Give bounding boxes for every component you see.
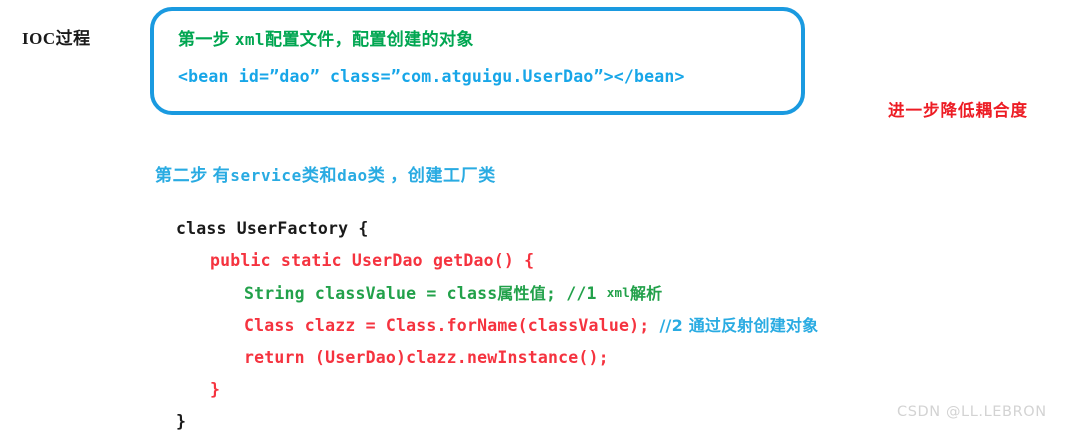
step-one-title-latin: xml — [235, 30, 265, 49]
code-line-method-signature: public static UserDao getDao() { — [176, 245, 976, 277]
code-line-class-declaration: class UserFactory { — [176, 213, 976, 245]
java-code-block: class UserFactory { public static UserDa… — [176, 213, 976, 436]
code-string-classvalue-cjk: 属性值 — [497, 284, 546, 303]
slide-canvas: IOC过程 第一步 xml配置文件，配置创建的对象 <bean id=”dao”… — [0, 0, 1085, 436]
csdn-watermark: CSDN @LL.LEBRON — [897, 404, 1047, 420]
code-string-classvalue-code: String classValue = class — [244, 284, 497, 303]
step-one-xml-code: <bean id=”dao” class=”com.atguigu.UserDa… — [178, 67, 685, 86]
step-one-callout-box: 第一步 xml配置文件，配置创建的对象 <bean id=”dao” class… — [150, 7, 805, 115]
code-comment-xml-parse-cjk: 解析 — [630, 284, 662, 303]
code-line-string-classvalue: String classValue = class属性值; //1 xml解析 — [176, 277, 976, 310]
code-class-forname-code: Class clazz = Class.forName(classValue); — [244, 316, 660, 335]
code-line-close-class-brace: } — [176, 406, 976, 436]
step-two-title-latin-dao: dao — [337, 166, 368, 185]
code-string-classvalue-tail: ; //1 — [546, 284, 607, 303]
decouple-note: 进一步降低耦合度 — [888, 97, 1028, 121]
code-line-return-newinstance: return (UserDao)clazz.newInstance(); — [176, 342, 976, 374]
code-comment-xml-superscript: xml — [607, 285, 630, 300]
step-two-title-prefix: 第二步 有 — [155, 166, 230, 185]
step-two-title-suffix: 类 ，创建工厂类 — [368, 166, 496, 185]
step-one-title: 第一步 xml配置文件，配置创建的对象 — [178, 25, 474, 50]
ioc-process-label: IOC过程 — [22, 24, 91, 49]
code-comment-reflection: //2 通过反射创建对象 — [660, 316, 819, 335]
step-two-title-mid: 类和 — [302, 166, 337, 185]
step-one-title-prefix: 第一步 — [178, 30, 235, 49]
code-line-class-forname: Class clazz = Class.forName(classValue);… — [176, 310, 976, 342]
step-two-title: 第二步 有service类和dao类 ，创建工厂类 — [155, 161, 496, 186]
step-one-title-suffix: 配置文件，配置创建的对象 — [265, 30, 474, 49]
code-line-close-method-brace: } — [176, 374, 976, 406]
step-two-title-latin-service: service — [230, 166, 302, 185]
